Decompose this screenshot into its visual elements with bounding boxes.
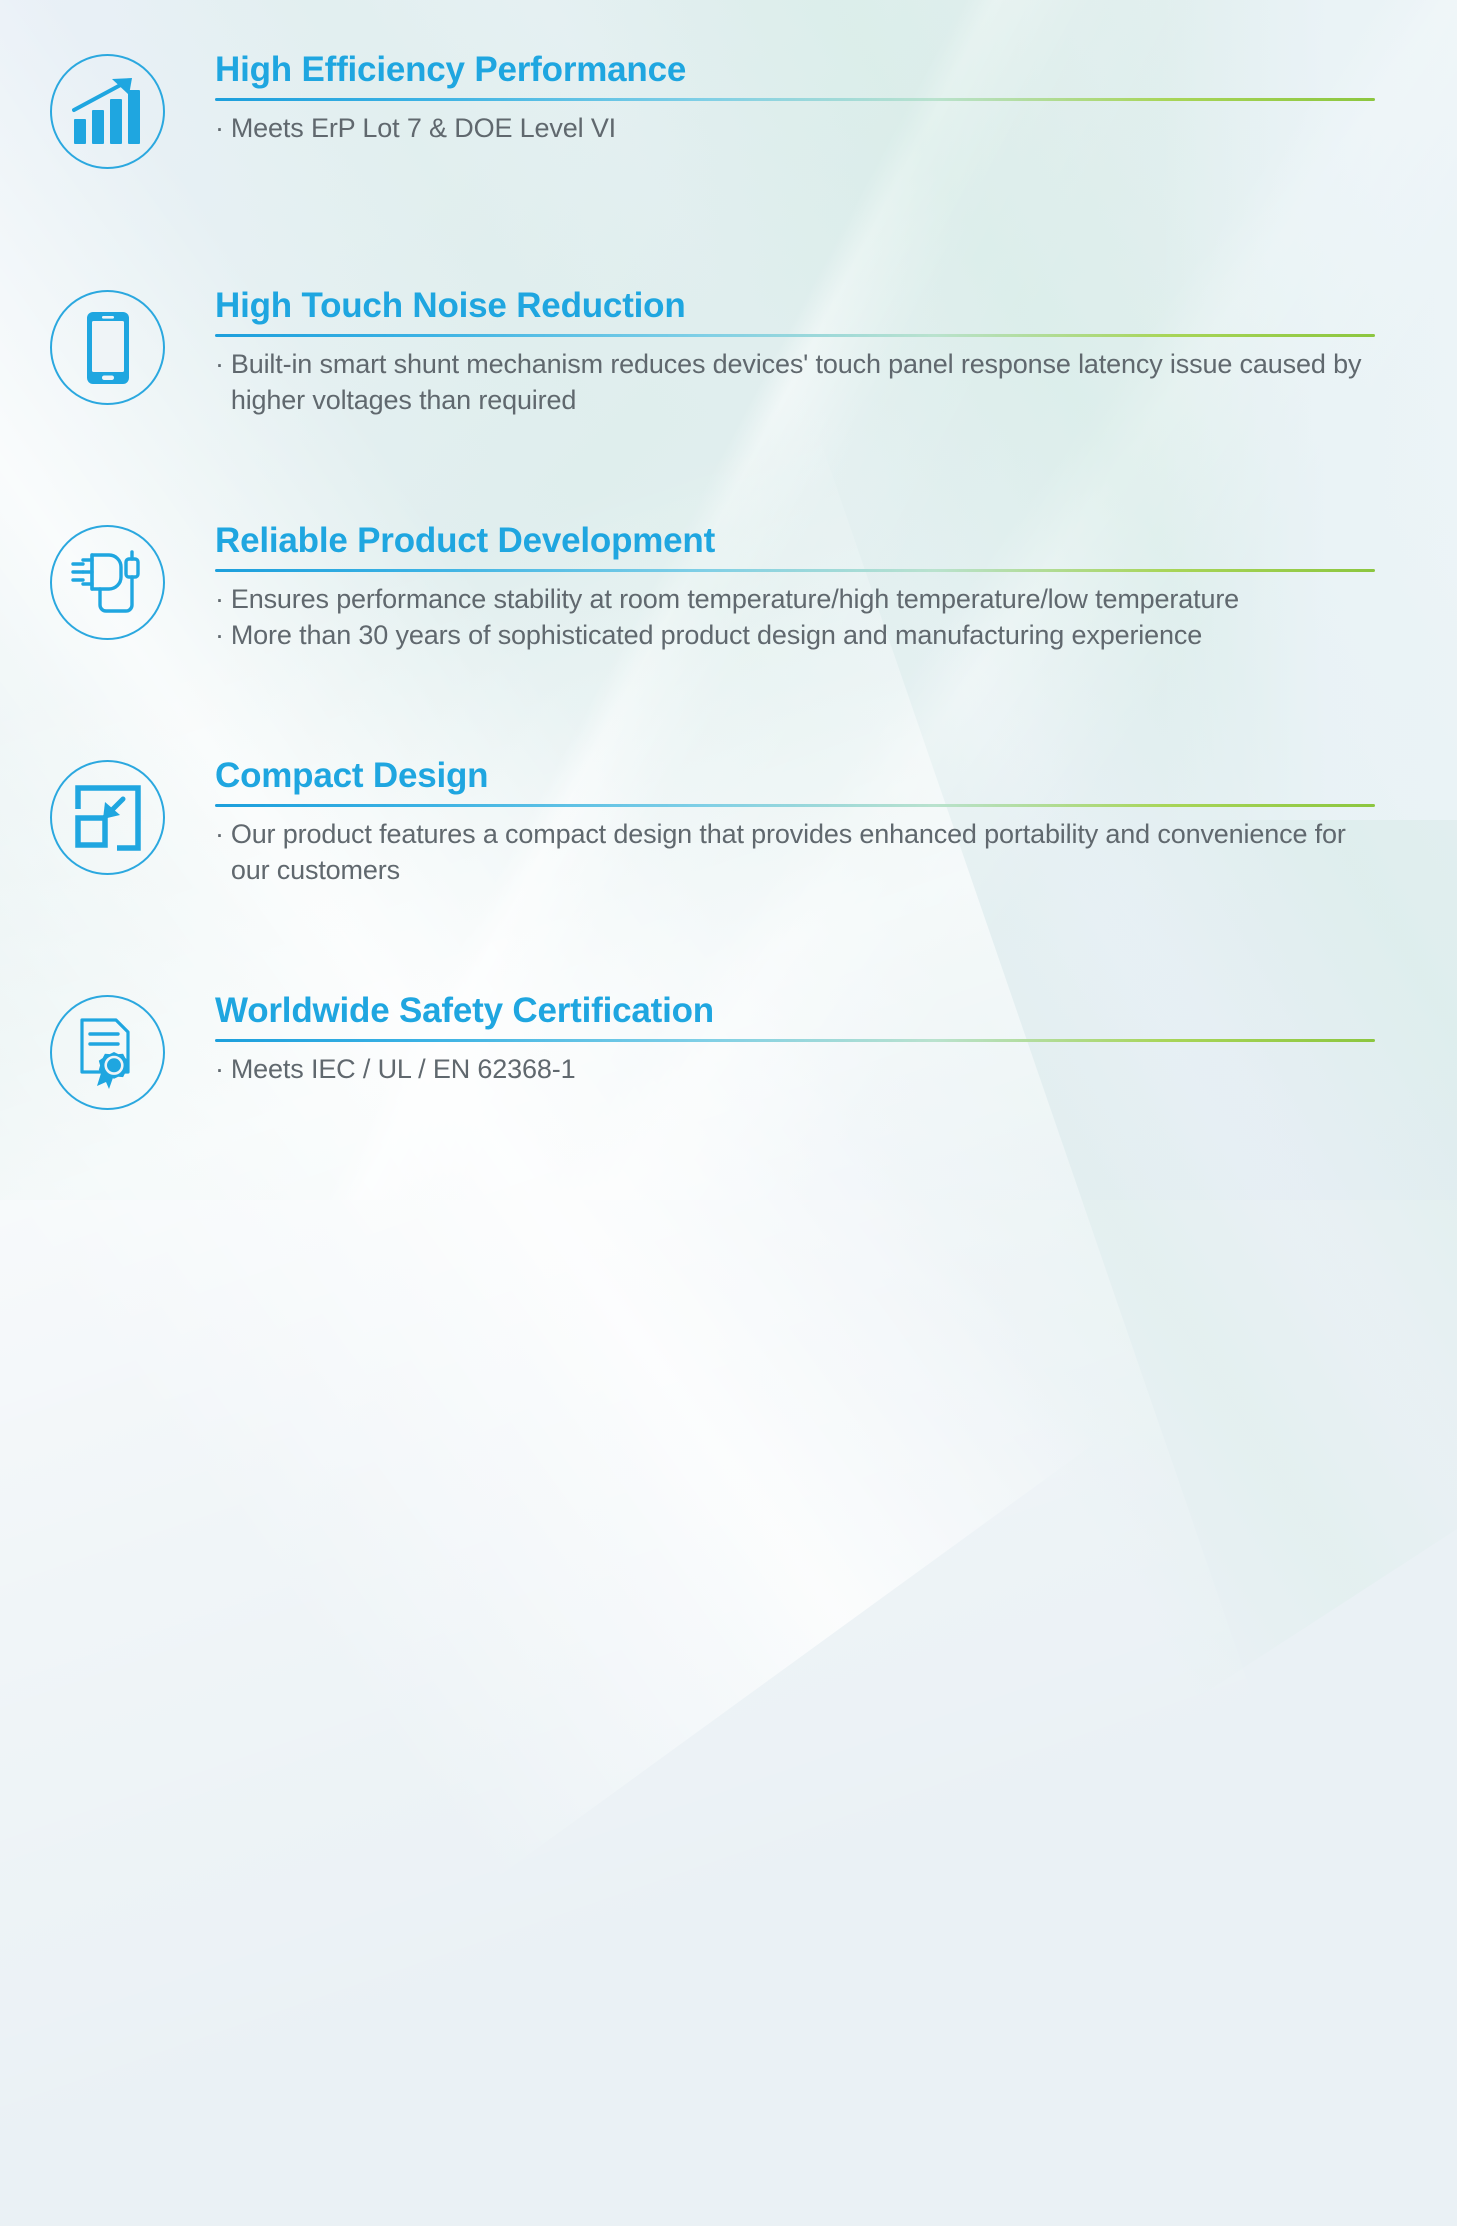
icon-circle	[50, 290, 165, 405]
bullet-dot: ·	[215, 1052, 224, 1088]
feature-bullet-list: · Meets ErP Lot 7 & DOE Level VI	[215, 111, 1375, 147]
feature-item-high-efficiency-performance: High Efficiency Performance · Meets ErP …	[0, 52, 1457, 169]
bullet-dot: ·	[215, 347, 224, 383]
bullet-dot: ·	[215, 582, 224, 618]
feature-divider	[215, 804, 1375, 807]
feature-bullet-line: · More than 30 years of sophisticated pr…	[215, 618, 1375, 654]
feature-bullet-list: · Our product features a compact design …	[215, 817, 1375, 889]
feature-icon-container	[0, 758, 215, 875]
feature-title: High Touch Noise Reduction	[215, 288, 1375, 325]
feature-bullet-line: · Meets IEC / UL / EN 62368-1	[215, 1052, 1375, 1088]
bullet-dot: ·	[215, 817, 224, 853]
icon-circle	[50, 525, 165, 640]
feature-body: High Efficiency Performance · Meets ErP …	[215, 52, 1457, 147]
smartphone-icon	[85, 310, 131, 386]
feature-body: Compact Design · Our product features a …	[215, 758, 1457, 889]
feature-item-reliable-product-development: Reliable Product Development · Ensures p…	[0, 523, 1457, 654]
feature-bullet-text: More than 30 years of sophisticated prod…	[231, 618, 1375, 654]
feature-bullet-text: Meets ErP Lot 7 & DOE Level VI	[231, 111, 1375, 147]
feature-icon-container	[0, 52, 215, 169]
feature-bullet-list: · Built-in smart shunt mechanism reduces…	[215, 347, 1375, 419]
feature-item-compact-design: Compact Design · Our product features a …	[0, 758, 1457, 889]
feature-icon-container	[0, 523, 215, 640]
icon-circle	[50, 54, 165, 169]
feature-bullet-line: · Our product features a compact design …	[215, 817, 1375, 889]
feature-divider	[215, 98, 1375, 101]
feature-item-worldwide-safety-certification: Worldwide Safety Certification · Meets I…	[0, 993, 1457, 1110]
feature-bullet-text: Built-in smart shunt mechanism reduces d…	[231, 347, 1375, 419]
feature-title: Worldwide Safety Certification	[215, 993, 1375, 1030]
feature-divider	[215, 1039, 1375, 1042]
background-streak	[0, 414, 1267, 2226]
feature-title: Compact Design	[215, 758, 1375, 795]
bullet-dot: ·	[215, 618, 224, 654]
feature-body: High Touch Noise Reduction · Built-in sm…	[215, 288, 1457, 419]
feature-icon-container	[0, 288, 215, 405]
feature-body: Reliable Product Development · Ensures p…	[215, 523, 1457, 654]
feature-icon-container	[0, 993, 215, 1110]
feature-divider	[215, 334, 1375, 337]
feature-bullet-line: · Ensures performance stability at room …	[215, 582, 1375, 618]
feature-divider	[215, 569, 1375, 572]
feature-bullet-text: Ensures performance stability at room te…	[231, 582, 1375, 618]
icon-circle	[50, 995, 165, 1110]
compact-resize-icon	[75, 785, 141, 851]
feature-bullet-list: · Ensures performance stability at room …	[215, 582, 1375, 654]
feature-title: Reliable Product Development	[215, 523, 1375, 560]
feature-item-high-touch-noise-reduction: High Touch Noise Reduction · Built-in sm…	[0, 288, 1457, 419]
feature-title: High Efficiency Performance	[215, 52, 1375, 89]
feature-bullet-list: · Meets IEC / UL / EN 62368-1	[215, 1052, 1375, 1088]
feature-bullet-text: Our product features a compact design th…	[231, 817, 1375, 889]
feature-bullet-line: · Built-in smart shunt mechanism reduces…	[215, 347, 1375, 419]
certificate-award-icon	[76, 1016, 140, 1090]
power-adapter-icon	[69, 547, 147, 619]
icon-circle	[50, 760, 165, 875]
bar-chart-growth-icon	[72, 77, 144, 147]
feature-bullet-line: · Meets ErP Lot 7 & DOE Level VI	[215, 111, 1375, 147]
background-streak	[0, 0, 1103, 1884]
bullet-dot: ·	[215, 111, 224, 147]
background-streak	[406, 0, 1457, 1828]
feature-bullet-text: Meets IEC / UL / EN 62368-1	[231, 1052, 1375, 1088]
feature-body: Worldwide Safety Certification · Meets I…	[215, 993, 1457, 1088]
